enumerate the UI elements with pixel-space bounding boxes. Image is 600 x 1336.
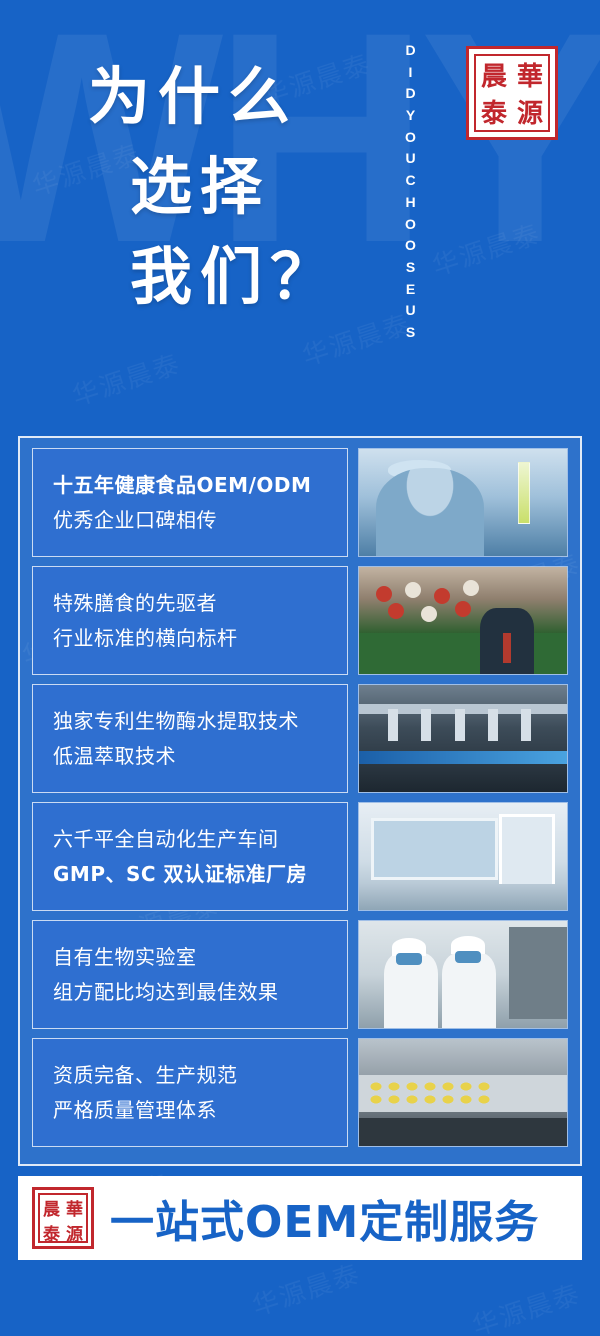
benefit-row: 自有生物实验室 组方配比均达到最佳效果	[32, 920, 568, 1029]
footer-stamp-char-top-left: 晨	[40, 1195, 63, 1220]
benefit-line-2: 优秀企业口碑相传	[53, 503, 327, 538]
vertical-letter: O	[398, 214, 424, 236]
vertical-letter: H	[398, 192, 424, 214]
benefit-photo-filling-line-machinery	[358, 684, 568, 793]
vertical-letter: E	[398, 279, 424, 301]
benefit-line-1: 六千平全自动化生产车间	[53, 822, 327, 857]
page-title: 为什么 选择 我们？	[88, 52, 340, 322]
vertical-letter: O	[398, 127, 424, 149]
benefit-line-1: 独家专利生物酶水提取技术	[53, 704, 327, 739]
headline-line-3: 我们？	[130, 232, 340, 322]
benefit-row: 十五年健康食品OEM/ODM 优秀企业口碑相传	[32, 448, 568, 557]
benefit-line-2: 低温萃取技术	[53, 739, 327, 774]
benefit-text-block: 十五年健康食品OEM/ODM 优秀企业口碑相传	[32, 448, 348, 557]
footer-stamp-char-bottom-left: 泰	[40, 1220, 63, 1245]
poster-header: 为什么 选择 我们？ D I D Y O U C H O O S E U S 晨	[0, 0, 600, 430]
brand-stamp-inner: 晨 華 泰 源	[474, 54, 550, 132]
benefit-line-1: 十五年健康食品OEM/ODM	[53, 468, 327, 503]
benefit-text-block: 资质完备、生产规范 严格质量管理体系	[32, 1038, 348, 1147]
footer-slogan: 一站式OEM定制服务	[110, 1186, 539, 1250]
benefit-row: 六千平全自动化生产车间 GMP、SC 双认证标准厂房	[32, 802, 568, 911]
benefit-line-2: 组方配比均达到最佳效果	[53, 975, 327, 1010]
benefit-photo-conference-audience	[358, 566, 568, 675]
vertical-letter: Y	[398, 105, 424, 127]
headline-line-2: 选择	[130, 142, 340, 232]
benefit-row: 特殊膳食的先驱者 行业标准的横向标杆	[32, 566, 568, 675]
footer-banner: 晨 華 泰 源 一站式OEM定制服务	[18, 1176, 582, 1260]
headline-line-1: 为什么	[88, 52, 340, 142]
vertical-letter: C	[398, 170, 424, 192]
benefit-photo-lab-technicians	[358, 920, 568, 1029]
benefit-line-2: 行业标准的横向标杆	[53, 621, 327, 656]
vertical-letter: U	[398, 148, 424, 170]
stamp-char-top-left: 晨	[476, 56, 512, 93]
stamp-char-top-right: 華	[512, 56, 548, 93]
benefit-photo-packaging-blister-line	[358, 1038, 568, 1147]
benefit-text-block: 六千平全自动化生产车间 GMP、SC 双认证标准厂房	[32, 802, 348, 911]
benefit-line-2: 严格质量管理体系	[53, 1093, 327, 1128]
poster-root: 华源晨泰 华源晨泰 华源晨泰 华源晨泰 华源晨泰 华源晨泰 华源晨泰 华源晨泰 …	[0, 0, 600, 1336]
footer-stamp-char-top-right: 華	[63, 1195, 86, 1220]
benefit-photo-lab-worker-with-flask	[358, 448, 568, 557]
vertical-letter: S	[398, 322, 424, 344]
benefit-row: 独家专利生物酶水提取技术 低温萃取技术	[32, 684, 568, 793]
benefit-photo-clean-workshop	[358, 802, 568, 911]
vertical-letter: S	[398, 257, 424, 279]
benefit-line-1: 特殊膳食的先驱者	[53, 586, 327, 621]
footer-stamp-char-bottom-right: 源	[63, 1220, 86, 1245]
vertical-letter: O	[398, 235, 424, 257]
benefit-line-1: 自有生物实验室	[53, 940, 327, 975]
footer-stamp-inner: 晨 華 泰 源	[38, 1193, 88, 1243]
vertical-letter: D	[398, 83, 424, 105]
bottom-strip	[0, 1260, 600, 1336]
vertical-english-caption: D I D Y O U C H O O S E U S	[398, 40, 424, 344]
benefit-text-block: 自有生物实验室 组方配比均达到最佳效果	[32, 920, 348, 1029]
footer-stamp-logo: 晨 華 泰 源	[32, 1187, 94, 1249]
vertical-letter: D	[398, 40, 424, 62]
stamp-char-bottom-left: 泰	[476, 93, 512, 130]
benefit-line-2: GMP、SC 双认证标准厂房	[53, 857, 327, 892]
benefit-row: 资质完备、生产规范 严格质量管理体系	[32, 1038, 568, 1147]
benefit-line-1: 资质完备、生产规范	[53, 1058, 327, 1093]
vertical-letter: U	[398, 300, 424, 322]
benefit-text-block: 特殊膳食的先驱者 行业标准的横向标杆	[32, 566, 348, 675]
benefit-text-block: 独家专利生物酶水提取技术 低温萃取技术	[32, 684, 348, 793]
stamp-char-bottom-right: 源	[512, 93, 548, 130]
vertical-letter: I	[398, 62, 424, 84]
benefits-card: 十五年健康食品OEM/ODM 优秀企业口碑相传 特殊膳食的先驱者 行业标准的横向…	[18, 436, 582, 1166]
brand-stamp-logo: 晨 華 泰 源	[466, 46, 558, 140]
